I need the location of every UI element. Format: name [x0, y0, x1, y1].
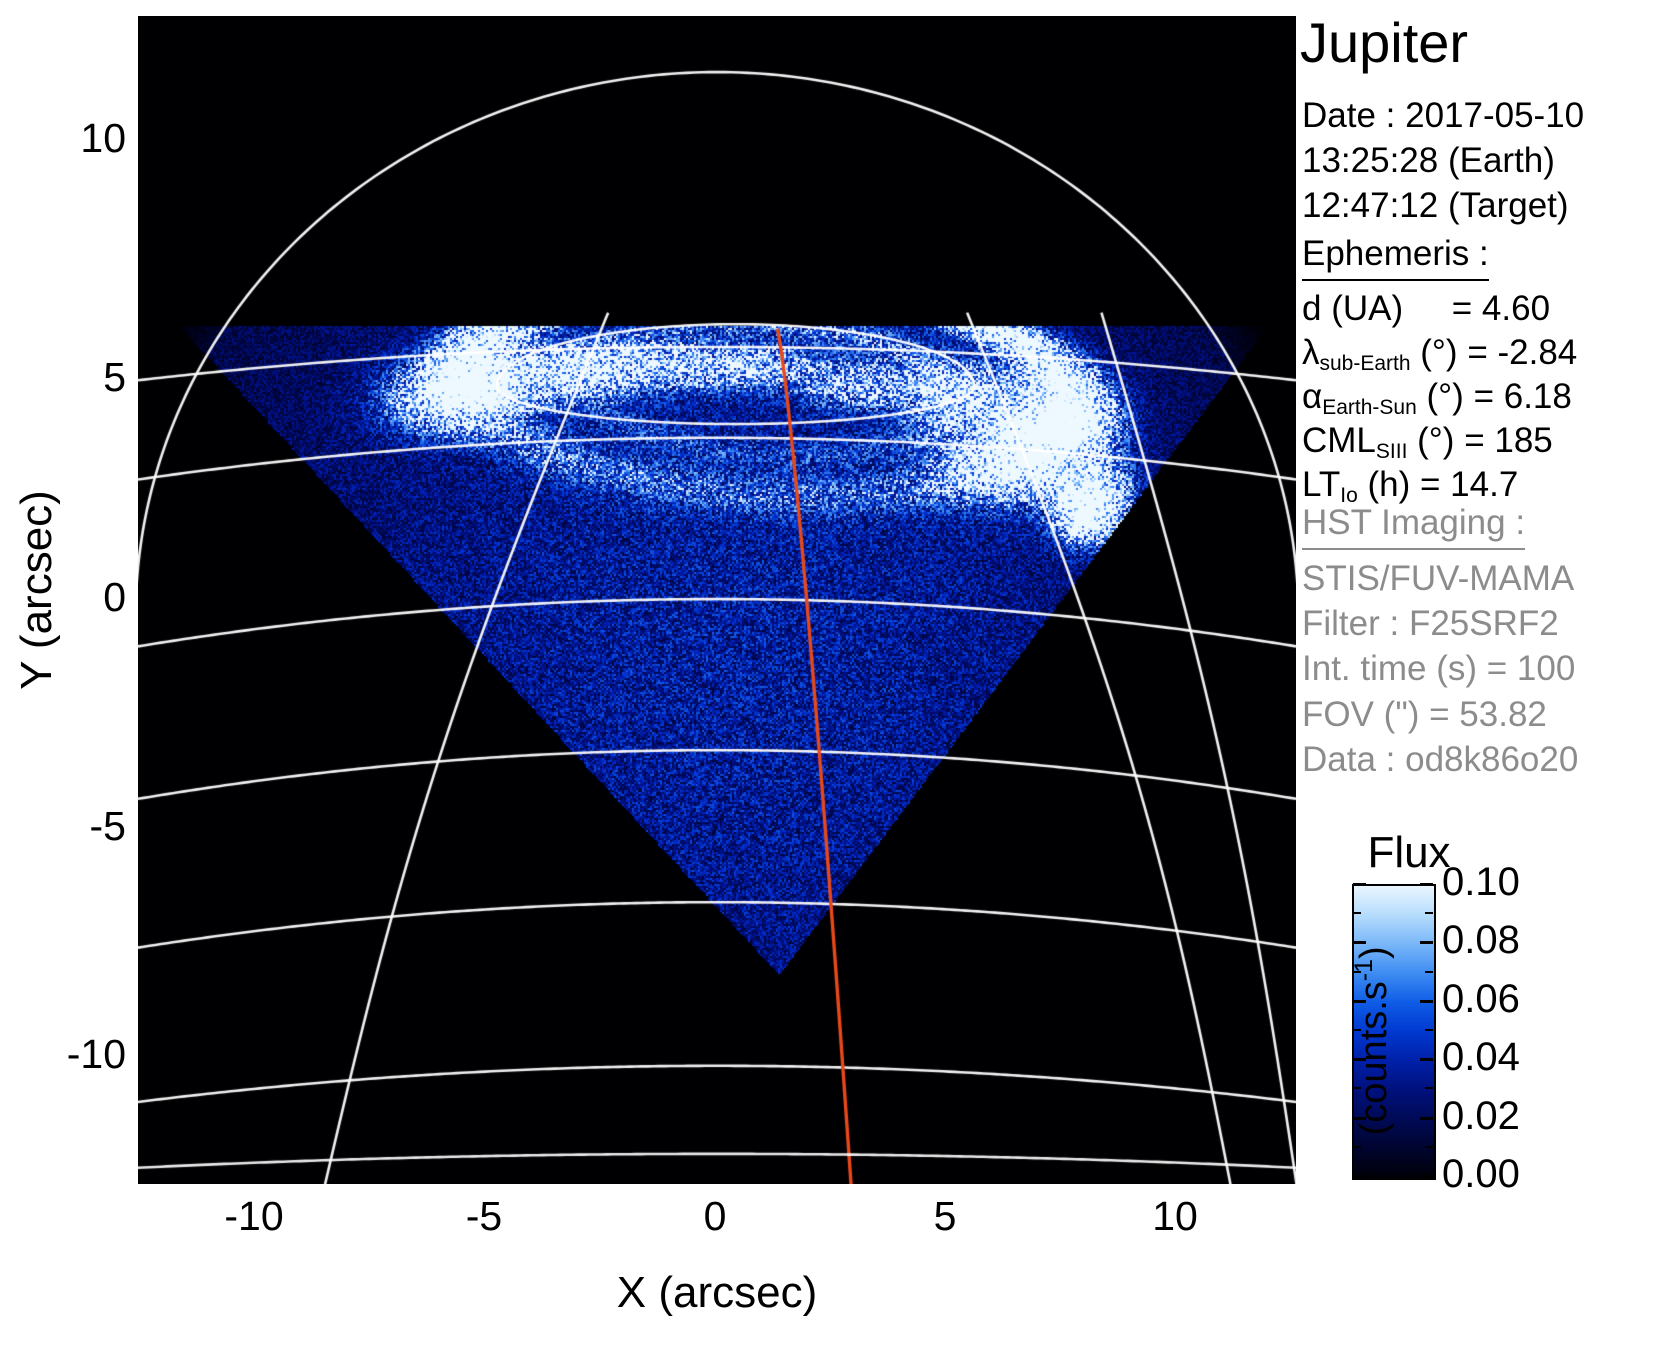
colorbar-minor-tick	[1425, 1146, 1433, 1148]
ephemeris-unit: (°)	[1417, 377, 1474, 416]
colorbar-minor-tick	[1425, 1087, 1433, 1089]
ephemeris-key: LT	[1302, 465, 1340, 504]
colorbar-minor-tick	[1425, 912, 1433, 914]
ephemeris-row: d (UA) = 4.60	[1302, 287, 1577, 331]
x-tick-label: 0	[655, 1196, 775, 1237]
info-panel: Jupiter Date : 2017-05-10 13:25:28 (Eart…	[1300, 0, 1676, 1367]
time-target-line: 12:47:12 (Target)	[1302, 184, 1584, 229]
ephemeris-key: d (UA)	[1302, 289, 1403, 328]
x-axis-title: X (arcsec)	[0, 1268, 1434, 1318]
colorbar-tick-mark	[1420, 1175, 1433, 1178]
jupiter-aurora-image	[138, 16, 1296, 1184]
ephemeris-subscript: SIII	[1376, 440, 1408, 463]
ephemeris-header: Ephemeris :	[1302, 232, 1489, 281]
ephemeris-unit: (h)	[1358, 465, 1420, 504]
colorbar-tick-label: 0.08	[1442, 920, 1520, 960]
x-tick-label: -10	[194, 1196, 314, 1237]
colorbar-tick-label: 0.10	[1442, 862, 1520, 902]
x-tick-label: -5	[424, 1196, 544, 1237]
hst-imaging-block: HST Imaging : STIS/FUV-MAMAFilter : F25S…	[1302, 500, 1578, 782]
colorbar-minor-tick	[1425, 971, 1433, 973]
colorbar-tick-label: 0.00	[1442, 1154, 1520, 1194]
ephemeris-unit: (°)	[1407, 421, 1464, 460]
colorbar-tick-mark	[1420, 1117, 1433, 1120]
colorbar-unit-label: (counts.s-1)	[1350, 891, 1396, 1191]
ephemeris-subscript: Earth-Sun	[1322, 396, 1417, 419]
hst-imaging-header: HST Imaging :	[1302, 500, 1525, 550]
hst-imaging-row: Filter : F25SRF2	[1302, 601, 1578, 646]
ephemeris-row: λsub-Earth (°) = -2.84	[1302, 331, 1577, 375]
colorbar-tick-mark	[1353, 883, 1366, 886]
ephemeris-value: = -2.84	[1467, 333, 1577, 372]
ephemeris-subscript: sub-Earth	[1320, 352, 1411, 375]
colorbar-unit-main: (counts.s	[1353, 981, 1395, 1135]
hst-imaging-row: Int. time (s) = 100	[1302, 646, 1578, 691]
hst-imaging-rows: STIS/FUV-MAMAFilter : F25SRF2Int. time (…	[1302, 556, 1578, 782]
ephemeris-row: CMLSIII (°) = 185	[1302, 419, 1577, 463]
ephemeris-key: α	[1302, 377, 1322, 416]
date-line: Date : 2017-05-10	[1302, 94, 1584, 139]
observation-date-block: Date : 2017-05-10 13:25:28 (Earth) 12:47…	[1302, 94, 1584, 228]
ephemeris-value: = 185	[1464, 421, 1553, 460]
hst-imaging-row: Data : od8k86o20	[1302, 737, 1578, 782]
colorbar-tick-label: 0.04	[1442, 1037, 1520, 1077]
colorbar-tick-mark	[1420, 883, 1433, 886]
ephemeris-value: = 14.7	[1420, 465, 1518, 504]
target-title: Jupiter	[1300, 14, 1468, 73]
colorbar-tick-label: 0.06	[1442, 979, 1520, 1019]
y-tick-label: 10	[40, 118, 126, 159]
ephemeris-row: αEarth-Sun (°) = 6.18	[1302, 375, 1577, 419]
colorbar-tick-mark	[1420, 941, 1433, 944]
x-tick-label: 10	[1115, 1196, 1235, 1237]
y-tick-label: 5	[40, 357, 126, 398]
ephemeris-block: Ephemeris : d (UA) = 4.60λsub-Earth (°) …	[1302, 232, 1577, 508]
colorbar-unit-close: )	[1353, 946, 1395, 959]
ephemeris-unit: (°)	[1411, 333, 1468, 372]
x-tick-label: 5	[885, 1196, 1005, 1237]
colorbar-unit-exponent: -1	[1350, 959, 1378, 981]
ephemeris-key: λ	[1302, 333, 1320, 372]
y-tick-label: -10	[40, 1034, 126, 1075]
y-tick-label: -5	[40, 806, 126, 847]
hst-imaging-row: FOV (") = 53.82	[1302, 692, 1578, 737]
hst-imaging-row: STIS/FUV-MAMA	[1302, 556, 1578, 601]
ephemeris-value: = 6.18	[1474, 377, 1572, 416]
plot-area	[138, 16, 1296, 1184]
y-axis-title: Y (arcsec)	[12, 430, 62, 750]
ephemeris-unit	[1403, 289, 1452, 328]
ephemeris-value: = 4.60	[1452, 289, 1550, 328]
colorbar-tick-label: 0.02	[1442, 1096, 1520, 1136]
time-earth-line: 13:25:28 (Earth)	[1302, 139, 1584, 184]
colorbar-tick-mark	[1420, 1000, 1433, 1003]
colorbar-minor-tick	[1425, 1029, 1433, 1031]
ephemeris-rows: d (UA) = 4.60λsub-Earth (°) = -2.84αEart…	[1302, 287, 1577, 507]
ephemeris-key: CML	[1302, 421, 1376, 460]
colorbar-tick-mark	[1420, 1058, 1433, 1061]
